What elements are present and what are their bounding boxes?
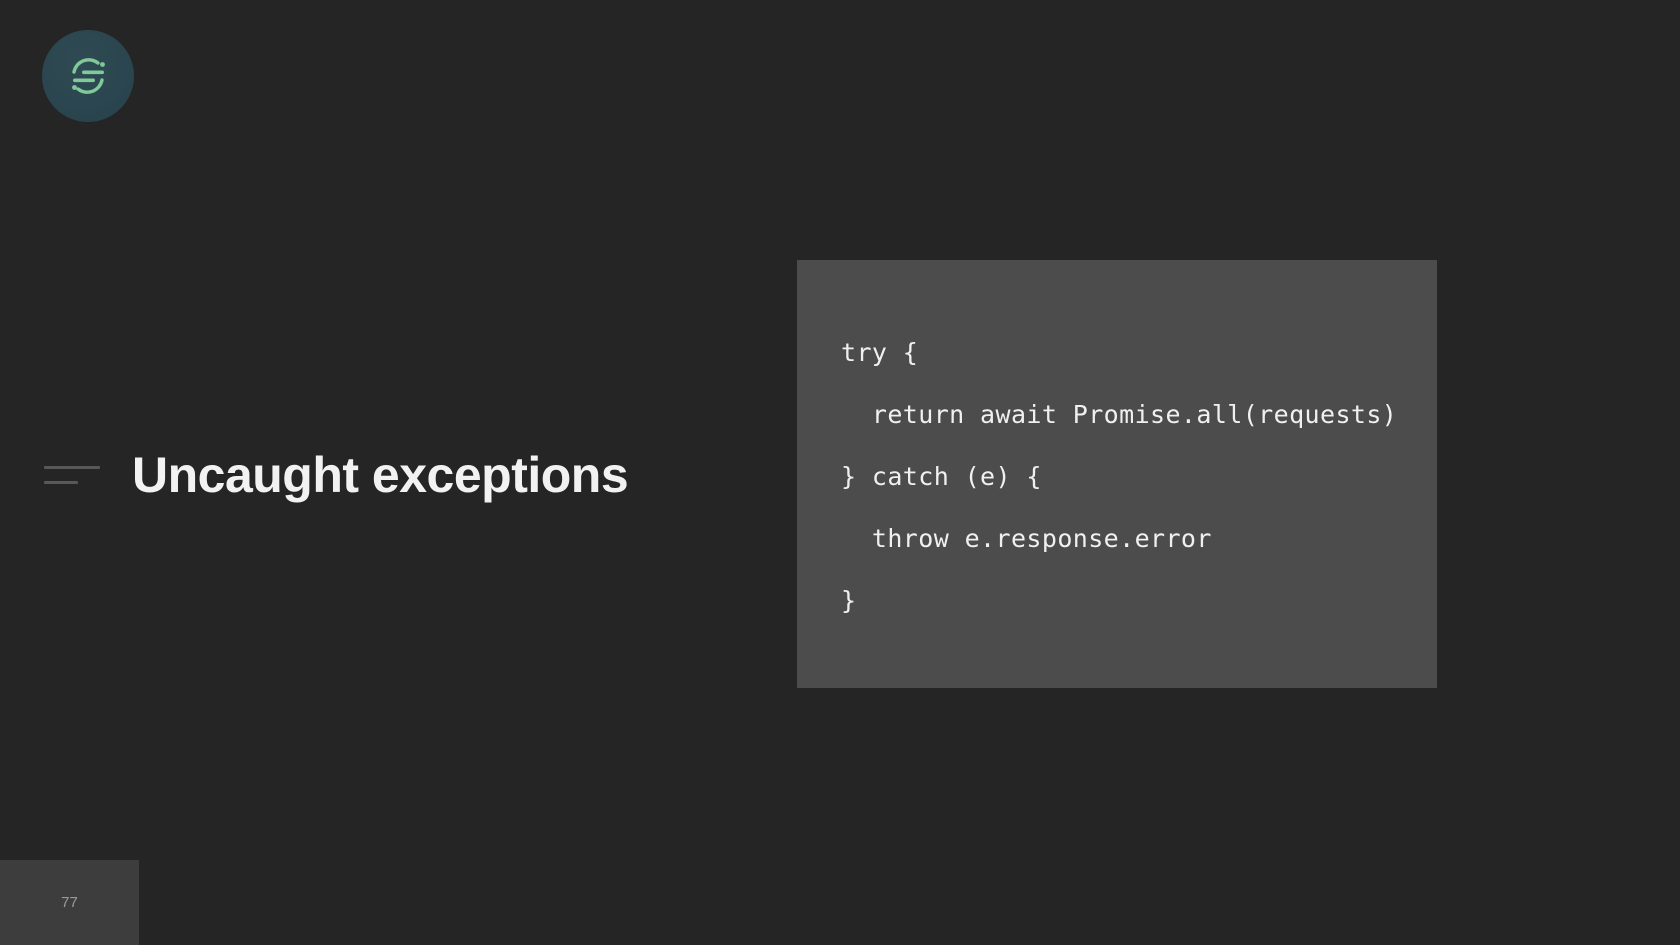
brand-logo-badge — [42, 30, 134, 122]
page-title: Uncaught exceptions — [132, 450, 628, 500]
dash-long — [44, 466, 100, 469]
code-line-3: } catch (e) { — [841, 446, 1437, 508]
code-line-2: return await Promise.all(requests) — [841, 384, 1437, 446]
code-block: try { return await Promise.all(requests)… — [797, 260, 1437, 688]
dash-short — [44, 481, 78, 484]
code-line-5: } — [841, 570, 1437, 632]
page-number-box: 77 — [0, 860, 139, 945]
code-line-4: throw e.response.error — [841, 508, 1437, 570]
brand-logo-icon — [62, 50, 114, 102]
page-number: 77 — [61, 894, 78, 911]
decorative-dashes — [44, 466, 100, 484]
slide-root: Uncaught exceptions try { return await P… — [0, 0, 1680, 945]
title-group: Uncaught exceptions — [0, 440, 700, 510]
code-line-1: try { — [841, 322, 1437, 384]
